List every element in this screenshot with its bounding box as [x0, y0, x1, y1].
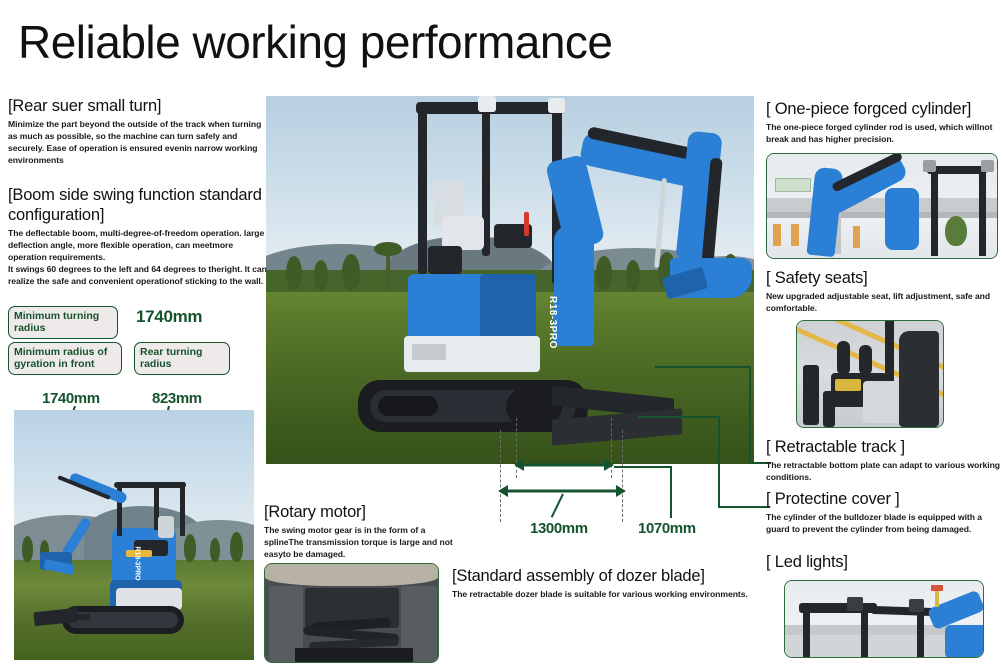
leader-line-retractable-track [749, 366, 751, 464]
label-minimum-turning-radius: Minimum turning radius [8, 306, 118, 339]
section-body: The deflectable boom, multi-degree-of-fr… [8, 228, 270, 287]
dimension-label-1740: 1740mm [42, 390, 100, 407]
section-heading: [ Safety seats] [766, 268, 1002, 288]
section-protectine-cover: [ Protectine cover ] The cylinder of the… [766, 489, 1002, 536]
section-body: The retractable bottom plate can adapt t… [766, 460, 1002, 484]
section-led-lights: [ Led lights] [766, 552, 1002, 572]
photo-led-lights [784, 580, 984, 658]
machine-model-decal: R18-3PRO [547, 296, 558, 349]
product-spec-poster: Reliable working performance [Rear suer … [0, 0, 1002, 666]
section-body: The swing motor gear is in the form of a… [264, 525, 459, 561]
dimension-label-823: 823mm [152, 390, 202, 407]
section-heading: [ Retractable track ] [766, 437, 1002, 457]
leader-line-1070 [670, 466, 672, 518]
section-retractable-track: [ Retractable track ] The retractable bo… [766, 437, 1002, 484]
photo-safety-seat [796, 320, 944, 428]
section-heading: [ Protectine cover ] [766, 489, 1002, 509]
section-dozer-blade: [Standard assembly of dozer blade] The r… [452, 566, 768, 601]
extension-line [500, 430, 501, 522]
leader-line-protectine-cover [718, 416, 720, 508]
photo-rotary-motor [264, 563, 439, 663]
section-heading: [Boom side swing function standard confi… [8, 185, 270, 225]
section-heading: [ One-piece forgced cylinder] [766, 99, 1002, 119]
label-rear-turning-radius: Rear turning radius [134, 342, 230, 375]
section-rear-small-turn: [Rear suer small turn] Minimize the part… [8, 96, 264, 167]
section-safety-seats: [ Safety seats] New upgraded adjustable … [766, 268, 1002, 315]
leader-line-1070 [614, 466, 672, 468]
section-body: Minimize the part beyond the outside of … [8, 119, 264, 166]
dimension-arrow-inner [514, 458, 614, 472]
dimension-label-1300: 1300mm [530, 520, 588, 537]
photo-forged-cylinder [766, 153, 998, 259]
photo-excavator-side-view: R18-3PRO [14, 410, 254, 660]
section-body: The one-piece forged cylinder rod is use… [766, 122, 1002, 146]
section-body: New upgraded adjustable seat, lift adjus… [766, 291, 1002, 315]
value-minimum-turning-radius: 1740mm [136, 307, 202, 327]
section-body: The cylinder of the bulldozer blade is e… [766, 512, 1002, 536]
extension-line [622, 430, 623, 522]
section-heading: [Standard assembly of dozer blade] [452, 566, 768, 586]
section-body: The retractable dozer blade is suitable … [452, 589, 768, 601]
leader-line-protectine-cover [718, 506, 770, 508]
page-title: Reliable working performance [18, 18, 613, 66]
section-heading: [ Led lights] [766, 552, 1002, 572]
photo-excavator-main: R18-3PRO [266, 96, 754, 464]
section-rotary-motor: [Rotary motor] The swing motor gear is i… [264, 502, 459, 561]
leader-line-protectine-cover [638, 416, 720, 418]
section-heading: [Rotary motor] [264, 502, 459, 522]
leader-line-retractable-track [655, 366, 751, 368]
section-boom-side-swing: [Boom side swing function standard confi… [8, 185, 270, 288]
dimension-label-1070: 1070mm [638, 520, 696, 537]
section-heading: [Rear suer small turn] [8, 96, 264, 116]
label-minimum-radius-gyration: Minimum radius of gyration in front [8, 342, 122, 375]
section-forged-cylinder: [ One-piece forgced cylinder] The one-pi… [766, 99, 1002, 146]
